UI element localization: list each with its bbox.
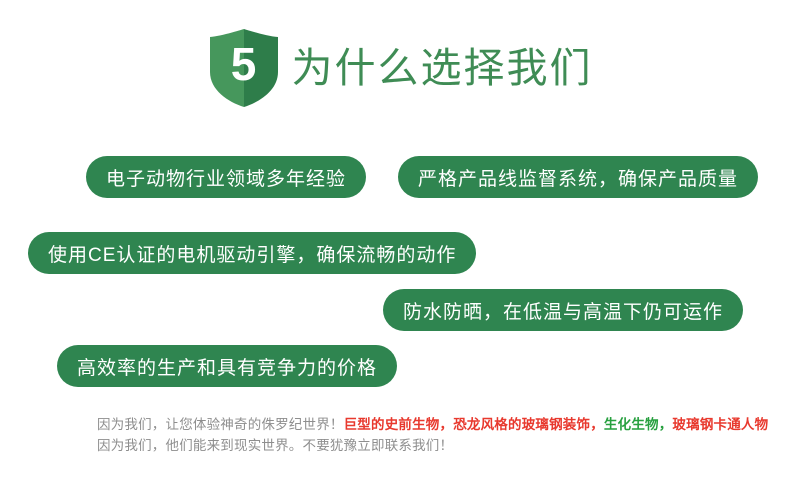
footer-line1-part1: 因为我们，让您体验神奇的侏罗纪世界！	[97, 417, 344, 432]
feature-pill-ce-motor: 使用CE认证的电机驱动引擎，确保流畅的动作	[28, 232, 476, 274]
header: 5 为什么选择我们	[0, 26, 800, 110]
feature-pill-weatherproof: 防水防晒，在低温与高温下仍可运作	[383, 289, 743, 331]
feature-pill-quality: 严格产品线监督系统，确保产品质量	[398, 156, 758, 198]
feature-pill-experience: 电子动物行业领域多年经验	[86, 156, 366, 198]
why-choose-us-banner: 5 为什么选择我们 电子动物行业领域多年经验 严格产品线监督系统，确保产品质量 …	[0, 0, 800, 485]
footer-line-1: 因为我们，让您体验神奇的侏罗纪世界！巨型的史前生物，恐龙风格的玻璃钢装饰，生化生…	[97, 414, 797, 435]
footer-line2-part1: 因为我们，他们能来到现实世界。不要犹豫立即联系我们！	[97, 438, 453, 453]
shield-badge: 5	[208, 28, 280, 108]
feature-pill-label: 防水防晒，在低温与高温下仍可运作	[403, 297, 723, 324]
feature-pill-label: 高效率的生产和具有竞争力的价格	[77, 353, 377, 380]
feature-pill-label: 使用CE认证的电机驱动引擎，确保流畅的动作	[48, 240, 456, 267]
footer-line1-highlight-red-1: 巨型的史前生物，恐龙风格的玻璃钢装饰，	[344, 417, 604, 432]
feature-pill-price: 高效率的生产和具有竞争力的价格	[57, 345, 397, 387]
footer-text: 因为我们，让您体验神奇的侏罗纪世界！巨型的史前生物，恐龙风格的玻璃钢装饰，生化生…	[97, 414, 797, 456]
footer-line1-highlight-red-2: 玻璃钢卡通人物	[672, 417, 768, 432]
page-title: 为什么选择我们	[292, 48, 593, 89]
footer-line-2: 因为我们，他们能来到现实世界。不要犹豫立即联系我们！	[97, 435, 797, 456]
footer-line1-highlight-green: 生化生物，	[604, 417, 673, 432]
badge-number: 5	[208, 28, 280, 108]
feature-pill-label: 电子动物行业领域多年经验	[106, 164, 346, 191]
feature-pill-label: 严格产品线监督系统，确保产品质量	[418, 164, 738, 191]
